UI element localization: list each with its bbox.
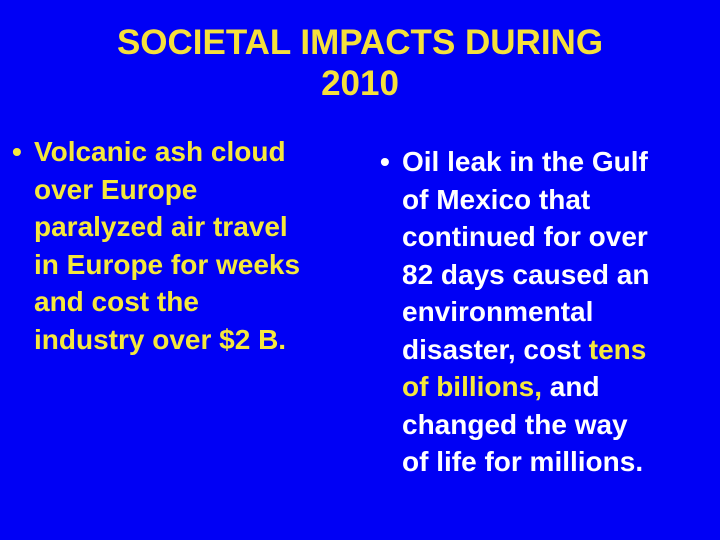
- list-item-line: industry over $2 B.: [34, 321, 360, 359]
- page-title-line-2: 2010: [40, 63, 680, 104]
- list-item-line: 82 days caused an: [402, 256, 716, 294]
- text-run: disaster, cost: [402, 334, 589, 365]
- list-item-line: disaster, cost tens: [402, 331, 716, 369]
- list-item-line: of Mexico that: [402, 181, 716, 219]
- list-item: • Volcanic ash cloud over Europe paralyz…: [8, 133, 360, 358]
- list-item-line: over Europe: [34, 171, 360, 209]
- list-item-line: environmental: [402, 293, 716, 331]
- text-run: of life for millions.: [402, 446, 643, 477]
- highlighted-text: of billions,: [402, 371, 542, 402]
- list-item-line: Oil leak in the Gulf: [402, 143, 716, 181]
- list-item-line: changed the way: [402, 406, 716, 444]
- bullet-point-icon: •: [12, 133, 22, 171]
- slide-canvas: SOCIETAL IMPACTS DURING 2010 • Volcanic …: [0, 0, 720, 540]
- text-run: 82 days caused an: [402, 259, 649, 290]
- text-run: environmental: [402, 296, 593, 327]
- list-item-line: of life for millions.: [402, 443, 716, 481]
- list-item-line: Volcanic ash cloud: [34, 133, 360, 171]
- text-run: changed the way: [402, 409, 628, 440]
- list-item-line: continued for over: [402, 218, 716, 256]
- list-item-line: and cost the: [34, 283, 360, 321]
- list-item: • Oil leak in the Gulfof Mexico thatcont…: [376, 143, 716, 481]
- list-item-line: paralyzed air travel: [34, 208, 360, 246]
- bullet-point-icon: •: [380, 143, 390, 181]
- text-run: Oil leak in the Gulf: [402, 146, 648, 177]
- list-item-text: Oil leak in the Gulfof Mexico thatcontin…: [402, 143, 716, 481]
- text-run: continued for over: [402, 221, 648, 252]
- content-column-right: • Oil leak in the Gulfof Mexico thatcont…: [376, 143, 716, 481]
- list-item-text: Volcanic ash cloud over Europe paralyzed…: [34, 133, 360, 358]
- text-run: and: [542, 371, 600, 402]
- page-title: SOCIETAL IMPACTS DURING 2010: [40, 22, 680, 104]
- list-item-line: in Europe for weeks: [34, 246, 360, 284]
- content-column-left: • Volcanic ash cloud over Europe paralyz…: [8, 133, 360, 358]
- page-title-line-1: SOCIETAL IMPACTS DURING: [40, 22, 680, 63]
- highlighted-text: tens: [589, 334, 647, 365]
- text-run: of Mexico that: [402, 184, 590, 215]
- list-item-line: of billions, and: [402, 368, 716, 406]
